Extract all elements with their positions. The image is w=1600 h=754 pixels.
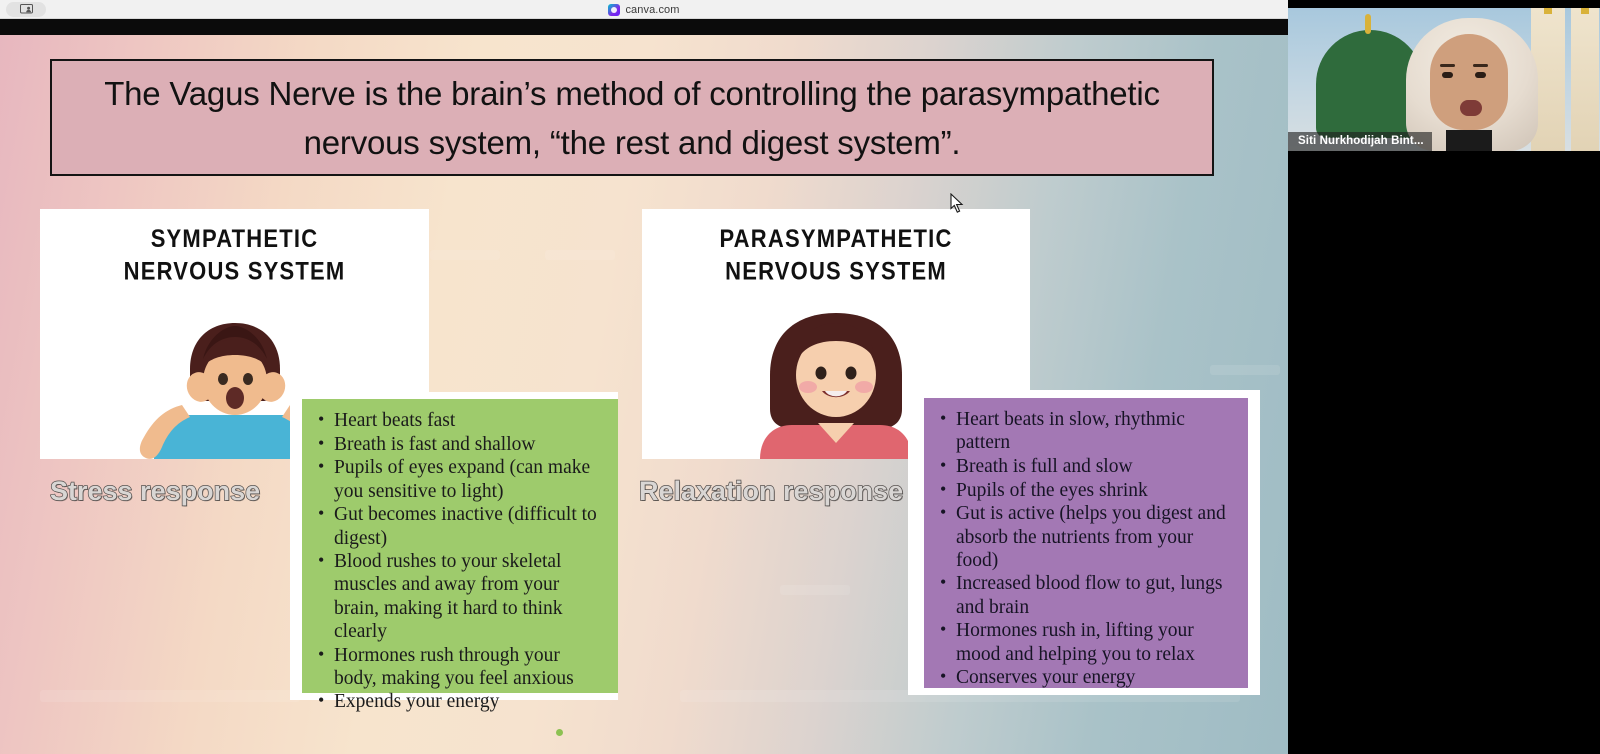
sympathetic-heading: SYMPATHETIC NERVOUS SYSTEM (40, 205, 429, 288)
site-domain-text: canva.com (625, 4, 679, 16)
list-item: Pupils of eyes expand (can make you sens… (314, 456, 604, 502)
eyebrow-left (1440, 64, 1455, 67)
stress-bullet-list: Heart beats fast Breath is fast and shal… (314, 409, 604, 714)
presentation-slide: The Vagus Nerve is the brain’s method of… (0, 35, 1288, 754)
face-shape (1430, 34, 1508, 130)
relaxation-bullet-panel: Heart beats in slow, rhythmic pattern Br… (924, 398, 1248, 688)
list-item: Heart beats in slow, rhythmic pattern (936, 408, 1234, 454)
background-artifact (780, 585, 850, 595)
sympathetic-heading-line2: NERVOUS SYSTEM (40, 255, 429, 287)
eye-right (1475, 72, 1486, 78)
relaxation-bullet-list: Heart beats in slow, rhythmic pattern Br… (936, 408, 1234, 689)
stress-bullet-panel: Heart beats fast Breath is fast and shal… (302, 399, 618, 693)
list-item: Heart beats fast (314, 409, 604, 432)
meeting-side-panel: Siti Nurkhodijah Bint... (1288, 0, 1600, 754)
background-artifact (40, 690, 300, 702)
list-item: Conserves your energy (936, 666, 1234, 689)
eye-left (1442, 72, 1453, 78)
parasympathetic-heading-line2: NERVOUS SYSTEM (642, 255, 1030, 287)
background-artifact (1210, 365, 1280, 375)
list-item: Expends your energy (314, 690, 604, 713)
shoulders-shape (1446, 130, 1492, 151)
list-item: Hormones rush in, lifting your mood and … (936, 619, 1234, 665)
slide-progress-dot (556, 729, 563, 736)
background-artifact (545, 250, 615, 260)
list-item: Breath is full and slow (936, 455, 1234, 478)
participant-name-badge: Siti Nurkhodijah Bint... (1288, 132, 1432, 151)
site-label: canva.com (0, 0, 1288, 19)
relaxation-response-label: Relaxation response (639, 476, 903, 507)
background-artifact (430, 250, 500, 260)
list-item: Gut is active (helps you digest and abso… (936, 502, 1234, 572)
browser-toolbar: canva.com (0, 0, 1288, 19)
canva-logo-icon (608, 4, 620, 16)
slide-title-text: The Vagus Nerve is the brain’s method of… (52, 69, 1212, 167)
list-item: Gut becomes inactive (difficult to diges… (314, 503, 604, 549)
parasympathetic-heading-line1: PARASYMPATHETIC (642, 222, 1030, 254)
sympathetic-heading-line1: SYMPATHETIC (40, 222, 429, 254)
mouth-shape (1460, 100, 1482, 116)
list-item: Pupils of the eyes shrink (936, 479, 1234, 502)
mouse-cursor (950, 193, 964, 213)
screen: canva.com The Vagus Nerve is the brain’s… (0, 0, 1600, 754)
list-item: Increased blood flow to gut, lungs and b… (936, 572, 1234, 618)
participant-video-tile[interactable]: Siti Nurkhodijah Bint... (1288, 8, 1600, 151)
list-item: Breath is fast and shallow (314, 433, 604, 456)
eyebrow-right (1473, 64, 1488, 67)
slide-title-banner: The Vagus Nerve is the brain’s method of… (50, 59, 1214, 176)
minaret-background-icon (1571, 8, 1599, 151)
browser-letterbox (0, 19, 1288, 35)
list-item: Blood rushes to your skeletal muscles an… (314, 550, 604, 643)
stress-response-label: Stress response (50, 476, 260, 507)
list-item: Hormones rush through your body, making … (314, 644, 604, 690)
parasympathetic-heading: PARASYMPATHETIC NERVOUS SYSTEM (642, 205, 1030, 288)
